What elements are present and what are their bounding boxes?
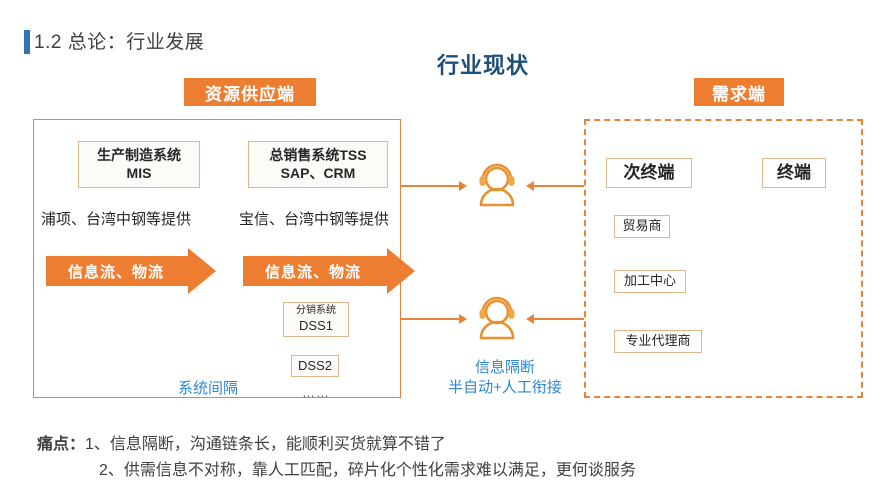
connector-arrowhead-demand-to-agent-bottom (526, 314, 534, 324)
main-heading: 行业现状 (437, 48, 529, 80)
pain-points-row-2: 2、供需信息不对称，靠人工匹配，碎片化个性化需求难以满足，更何谈服务 (37, 458, 636, 484)
system-gap-label: 系统间隔 (178, 377, 238, 398)
pain-points-item-2: 2、供需信息不对称，靠人工匹配，碎片化个性化需求难以满足，更何谈服务 (99, 462, 636, 479)
system-box-dss1-line2: DSS1 (299, 318, 333, 334)
headset-person-icon (471, 293, 523, 345)
connector-line-supply-to-agent-bottom (401, 318, 463, 320)
info-barrier-caption-line1: 信息隔断 (425, 358, 585, 378)
system-box-tss: 总销售系统TSS SAP、CRM (248, 141, 388, 188)
connector-arrowhead-supply-to-agent-bottom (459, 314, 467, 324)
subterminal-item-trader: 贸易商 (614, 215, 670, 238)
connector-arrowhead-demand-to-agent-top (526, 181, 534, 191)
connector-line-supply-to-agent-top (401, 185, 463, 187)
system-box-dss1: 分销系统 DSS1 (283, 302, 349, 337)
flow-arrow-2-head (387, 248, 415, 294)
title-accent-bar (24, 30, 30, 54)
flow-arrow-1-head (188, 248, 216, 294)
system-box-mis-line1: 生产制造系统 (97, 147, 181, 165)
supply-side-pill: 资源供应端 (184, 78, 316, 106)
system-box-dss1-line1: 分销系统 (296, 305, 336, 318)
pain-points-label: 痛点： (37, 436, 85, 453)
system-box-tss-line1: 总销售系统TSS (269, 147, 366, 165)
system-box-dss2: DSS2 (291, 355, 339, 377)
headset-person-icon (471, 160, 523, 212)
pain-points-item-1: 1、信息隔断，沟通链条长，能顺利买货就算不错了 (85, 436, 446, 453)
provider-text-right: 宝信、台湾中钢等提供 (239, 208, 389, 229)
dss-ellipsis: …… (302, 385, 330, 400)
pain-points-row-1: 痛点：1、信息隔断，沟通链条长，能顺利买货就算不错了 (37, 432, 636, 458)
subterminal-header-box: 次终端 (606, 158, 692, 188)
page-title: 1.2 总论：行业发展 (34, 27, 204, 54)
demand-side-pill: 需求端 (694, 78, 784, 106)
provider-text-left: 浦项、台湾中钢等提供 (41, 208, 191, 229)
terminal-header-box: 终端 (762, 158, 826, 188)
flow-arrow-1: 信息流、物流 (46, 248, 216, 294)
flow-arrow-2: 信息流、物流 (243, 248, 415, 294)
connector-line-demand-to-agent-top (528, 185, 586, 187)
info-barrier-caption-line2: 半自动+人工衔接 (425, 378, 585, 398)
connector-line-demand-to-agent-bottom (528, 318, 586, 320)
flow-arrow-1-label: 信息流、物流 (46, 261, 164, 282)
system-box-mis: 生产制造系统 MIS (78, 141, 200, 188)
pain-points-block: 痛点：1、信息隔断，沟通链条长，能顺利买货就算不错了 2、供需信息不对称，靠人工… (37, 432, 636, 483)
subterminal-item-processing-center: 加工中心 (614, 270, 686, 293)
system-box-tss-line2: SAP、CRM (281, 165, 356, 183)
flow-arrow-2-label: 信息流、物流 (243, 261, 361, 282)
connector-arrowhead-supply-to-agent-top (459, 181, 467, 191)
system-box-mis-line2: MIS (127, 165, 152, 183)
info-barrier-caption: 信息隔断 半自动+人工衔接 (425, 358, 585, 399)
slide-root: 1.2 总论：行业发展 行业现状 资源供应端 需求端 生产制造系统 MIS 总销… (0, 0, 889, 500)
subterminal-item-professional-agent: 专业代理商 (614, 330, 702, 353)
